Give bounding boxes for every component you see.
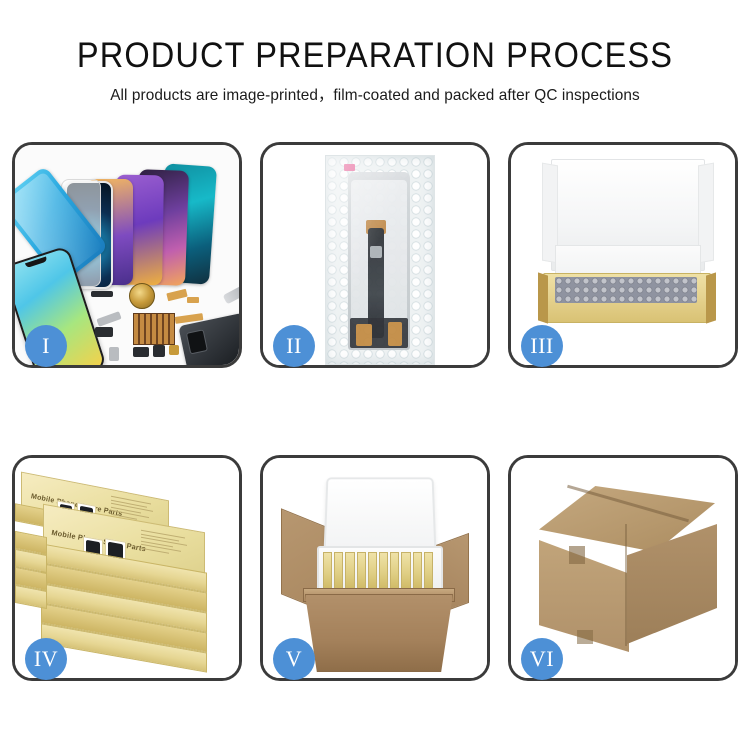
carton-tape-upper xyxy=(569,546,585,564)
step-badge-iii: III xyxy=(521,325,563,367)
step-card-iv: Mobile Phone Spare Parts Mobile Phone Sp… xyxy=(12,455,242,681)
process-steps-grid: I xyxy=(12,142,738,681)
page-subtitle: All products are image-printed，film-coat… xyxy=(15,76,735,106)
lcd-screen-assembly xyxy=(348,172,410,350)
page-title: PRODUCT PREPARATION PROCESS xyxy=(26,0,724,76)
carton-tape-lower xyxy=(577,630,593,644)
step-card-i: I xyxy=(12,142,242,368)
product-preparation-page: PRODUCT PREPARATION PROCESS All products… xyxy=(0,0,750,750)
page-header: PRODUCT PREPARATION PROCESS All products… xyxy=(0,0,750,106)
chip-array-part xyxy=(133,313,175,345)
step-card-vi: VI xyxy=(508,455,738,681)
step-badge-v: V xyxy=(273,638,315,680)
step-badge-vi: VI xyxy=(521,638,563,680)
speaker-coil-part xyxy=(129,283,155,309)
bubble-wrap-bag xyxy=(325,155,435,365)
bubble-wrapped-contents xyxy=(555,277,697,303)
step-card-v: V xyxy=(260,455,490,681)
carton-body xyxy=(305,594,453,672)
carton-corner-edge xyxy=(625,524,627,646)
kraft-boxes-inside-foam xyxy=(323,552,433,590)
step-card-ii: II xyxy=(260,142,490,368)
foam-box-lid xyxy=(323,477,436,554)
step-card-iii: III xyxy=(508,142,738,368)
step-badge-ii: II xyxy=(273,325,315,367)
pink-qc-sticker xyxy=(344,164,355,171)
step-badge-i: I xyxy=(25,325,67,367)
step-badge-iv: IV xyxy=(25,638,67,680)
spare-parts-group xyxy=(91,285,239,365)
